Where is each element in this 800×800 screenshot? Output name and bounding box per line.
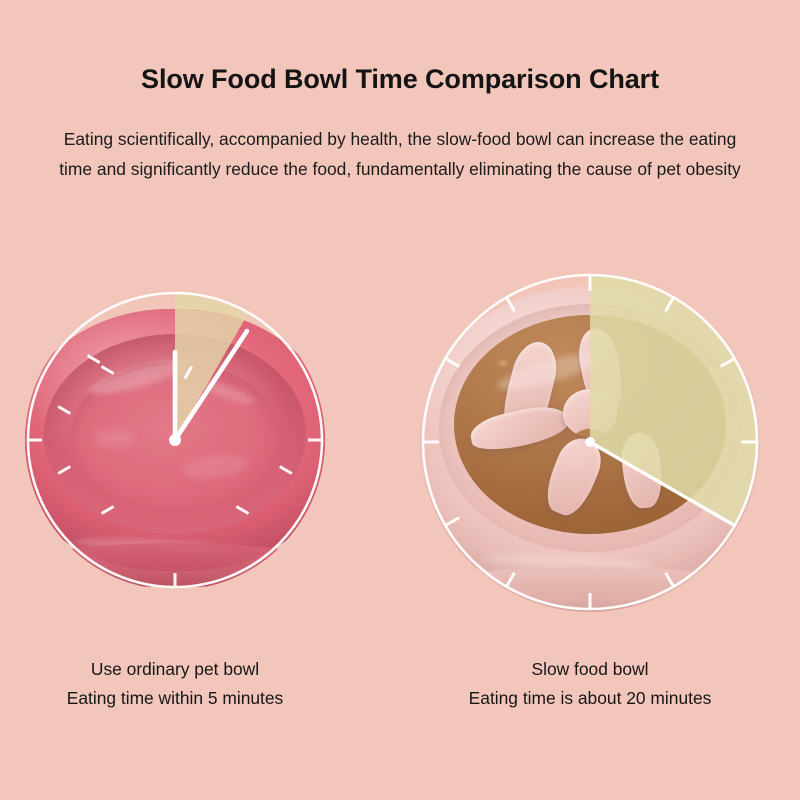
bowl-tab-right	[318, 431, 325, 472]
header: Slow Food Bowl Time Comparison Chart Eat…	[0, 0, 800, 185]
highlight-specular	[181, 451, 251, 482]
caption-line-1: Slow food bowl	[420, 655, 760, 684]
page-subtitle: Eating scientifically, accompanied by he…	[50, 125, 750, 185]
rose-pet-bowl-image	[25, 290, 325, 590]
elapsed-wedge-20min	[590, 275, 757, 526]
clock-center-pin	[169, 434, 181, 446]
highlight-specular	[74, 536, 236, 557]
highlight-specular	[94, 431, 134, 447]
dial-ring	[423, 275, 757, 609]
dial-tick-marks	[28, 352, 322, 587]
bowl-outer-body	[420, 286, 760, 597]
panel-slow-food-bowl	[420, 272, 760, 612]
slow-feeder-bowl-image	[420, 272, 760, 612]
dry-kibble-food	[454, 315, 726, 534]
highlight-specular	[87, 355, 189, 401]
bowl-outer-body	[25, 309, 325, 571]
page-title: Slow Food Bowl Time Comparison Chart	[0, 63, 800, 95]
bowl-inner-wall	[44, 334, 306, 534]
bowl-feeding-pan	[454, 315, 726, 534]
caption-slow-food-bowl: Slow food bowl Eating time is about 20 m…	[420, 655, 760, 713]
slow-food-bowl-dial	[420, 272, 760, 612]
caption-line-2: Eating time is about 20 minutes	[420, 684, 760, 713]
clock-elapsed-hand	[175, 331, 247, 440]
clock-overlay-right	[420, 272, 760, 612]
photo-tint-overlay	[25, 290, 325, 590]
ordinary-pet-bowl-dial	[25, 290, 325, 590]
highlight-specular	[494, 346, 606, 397]
caption-line-2: Eating time within 5 minutes	[25, 684, 325, 713]
caption-ordinary-bowl: Use ordinary pet bowl Eating time within…	[25, 655, 325, 713]
maze-ridge	[497, 337, 564, 445]
bowl-foot-ring	[25, 543, 325, 587]
clock-overlay-left	[25, 290, 325, 590]
bowl-tab-left	[25, 431, 32, 472]
highlight-specular	[201, 378, 256, 408]
maze-ridge	[575, 325, 628, 418]
ordinary-bowl-photo	[25, 290, 325, 590]
caption-line-1: Use ordinary pet bowl	[25, 655, 325, 684]
maze-ridge	[539, 432, 609, 521]
bowl-foot-ring	[432, 566, 748, 612]
maze-ridge	[468, 401, 571, 456]
elapsed-wedge-5min	[175, 293, 249, 440]
highlight-specular	[480, 551, 657, 574]
clock-center-pin	[585, 437, 595, 447]
panel-ordinary-bowl	[25, 290, 325, 590]
dial-ring	[28, 293, 322, 587]
dial-tick-marks	[423, 275, 757, 609]
bowl-dish-floor	[71, 362, 279, 509]
clock-elapsed-hand	[590, 442, 735, 526]
maze-ridge	[619, 431, 665, 509]
bowl-inner-wall	[439, 304, 740, 552]
maze-center-post	[563, 389, 617, 437]
slow-food-bowl-photo	[420, 272, 760, 612]
photo-tint-overlay	[420, 272, 760, 612]
